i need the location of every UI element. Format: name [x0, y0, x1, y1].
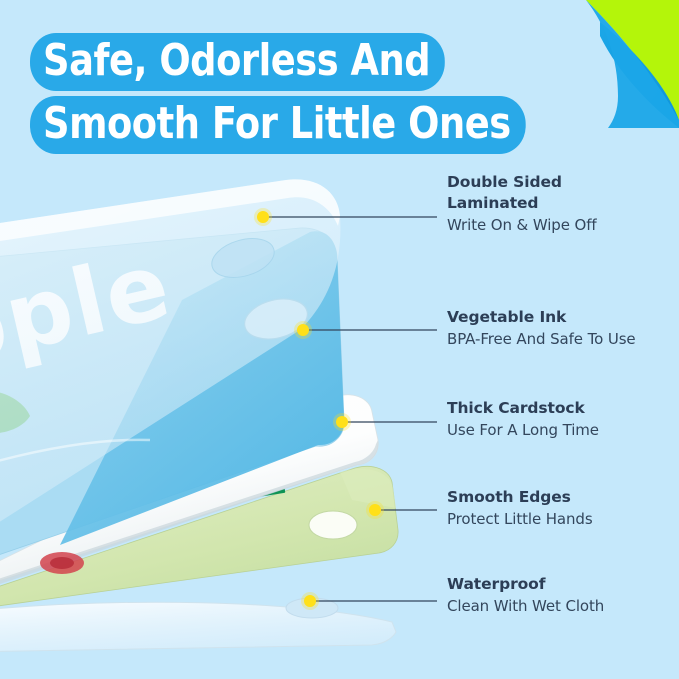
punch-hole — [309, 511, 357, 539]
feature-callout-2: Vegetable InkBPA-Free And Safe To Use — [447, 307, 679, 350]
feature-callout-3: Thick CardstockUse For A Long Time — [447, 398, 679, 441]
feature-callout-4: Smooth EdgesProtect Little Hands — [447, 487, 679, 530]
feature-list: Double SidedLaminatedWrite On & Wipe Off… — [447, 0, 679, 679]
feature-title: Vegetable Ink — [447, 307, 679, 328]
feature-title: Double Sided — [447, 172, 679, 193]
feature-subtitle: Write On & Wipe Off — [447, 215, 679, 236]
feature-callout-5: WaterproofClean With Wet Cloth — [447, 574, 679, 617]
headline-line-1: Safe, Odorless And — [30, 33, 445, 91]
punch-hole — [286, 598, 338, 618]
feature-title: Thick Cardstock — [447, 398, 679, 419]
feature-subtitle: Use For A Long Time — [447, 420, 679, 441]
feature-title-line2: Laminated — [447, 193, 679, 214]
feature-subtitle: Protect Little Hands — [447, 509, 679, 530]
product-infographic: pple Safe, Odor — [0, 0, 679, 679]
feature-title: Waterproof — [447, 574, 679, 595]
feature-title: Smooth Edges — [447, 487, 679, 508]
feature-subtitle: BPA-Free And Safe To Use — [447, 329, 679, 350]
feature-subtitle: Clean With Wet Cloth — [447, 596, 679, 617]
card-clear-bottom — [0, 598, 396, 652]
feature-callout-1: Double SidedLaminatedWrite On & Wipe Off — [447, 172, 679, 236]
